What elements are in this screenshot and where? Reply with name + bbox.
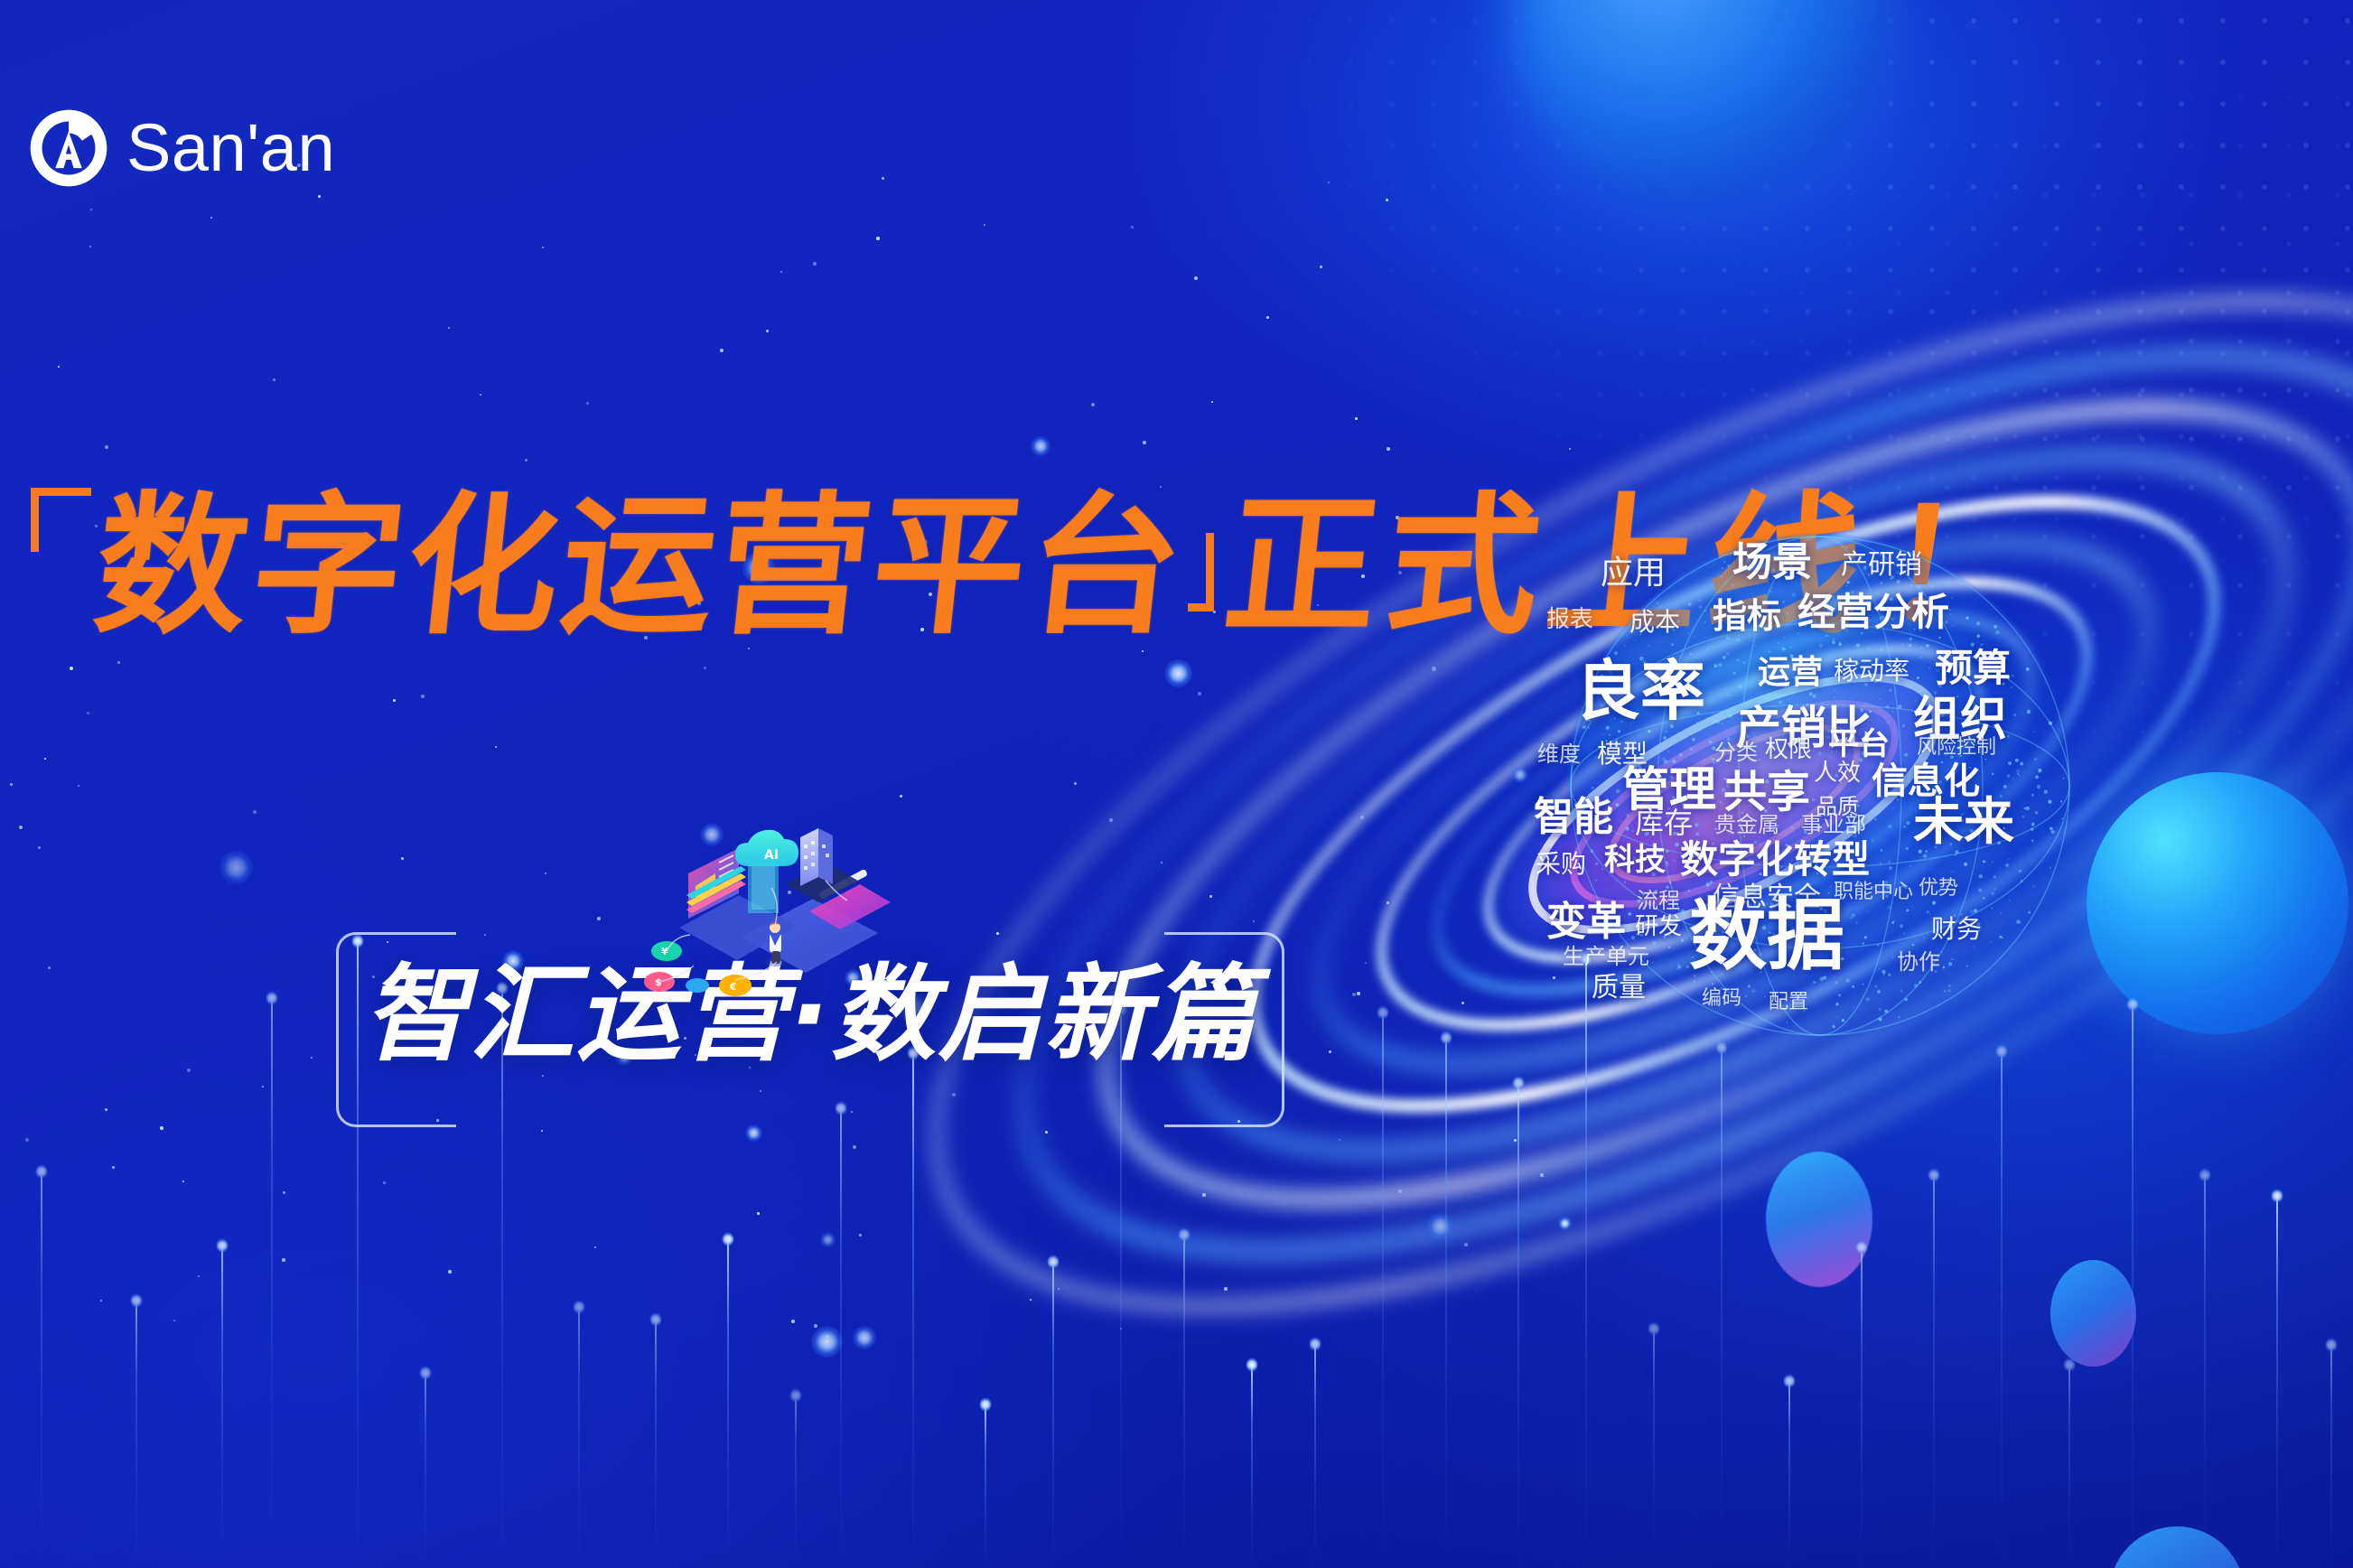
star-particle-icon — [100, 1300, 102, 1302]
star-particle-icon — [1355, 417, 1358, 420]
light-beam-icon — [2330, 1344, 2332, 1568]
light-beam-icon — [2132, 1003, 2134, 1568]
star-particle-icon — [1569, 448, 1571, 450]
star-particle-icon — [318, 195, 321, 198]
star-particle-icon — [421, 695, 425, 698]
star-particle-icon — [586, 402, 589, 405]
light-beam-icon — [425, 1372, 426, 1568]
star-particle-icon — [1045, 1131, 1048, 1134]
light-beam-icon — [1382, 1012, 1384, 1568]
star-particle-icon — [720, 349, 724, 352]
light-beam-icon — [795, 1395, 797, 1568]
star-particle-icon — [1109, 818, 1113, 822]
glow-particle-icon — [820, 1232, 836, 1247]
headline-quoted: 数字化运营平台 — [89, 493, 1192, 639]
star-particle-icon — [1266, 316, 1269, 319]
light-beam-icon — [1052, 1261, 1054, 1568]
star-particle-icon — [1514, 1139, 1517, 1142]
star-particle-icon — [87, 712, 89, 714]
isometric-data-platform-illustration: AI — [632, 817, 894, 998]
star-particle-icon — [545, 873, 546, 874]
star-particle-icon — [38, 846, 41, 849]
star-particle-icon — [1320, 266, 1322, 268]
star-particle-icon — [182, 1181, 184, 1182]
star-particle-icon — [48, 966, 51, 969]
star-particle-icon — [757, 1212, 760, 1215]
glow-particle-icon — [1512, 767, 1528, 783]
star-particle-icon — [1198, 692, 1201, 695]
light-beam-icon — [1861, 1246, 1863, 1568]
light-beam-icon — [221, 1245, 223, 1568]
star-particle-icon — [1058, 1288, 1060, 1290]
star-particle-icon — [383, 1181, 386, 1184]
glow-particle-icon — [745, 1125, 762, 1142]
word-cloud-item: 质量 — [1592, 975, 1646, 1002]
svg-text:$: $ — [655, 976, 662, 988]
light-beam-icon — [985, 1404, 986, 1568]
gradient-sphere-bottom-icon — [2109, 1526, 2245, 1568]
star-particle-icon — [1194, 276, 1198, 280]
glow-particle-icon — [1558, 1217, 1572, 1230]
star-particle-icon — [112, 1166, 115, 1169]
light-beam-icon — [2276, 1195, 2278, 1568]
star-particle-icon — [1360, 816, 1364, 819]
bracket-close-icon — [1188, 533, 1214, 611]
cyan-sphere-icon — [2087, 772, 2348, 1034]
blue-sphere-icon — [1510, 0, 1899, 217]
light-beam-icon — [1183, 1234, 1185, 1568]
star-particle-icon — [1387, 901, 1389, 904]
brand-name: San'an — [126, 115, 335, 182]
star-particle-icon — [1357, 992, 1360, 995]
star-particle-icon — [1540, 1173, 1544, 1177]
star-particle-icon — [594, 1246, 596, 1248]
star-particle-icon — [1143, 441, 1146, 444]
star-particle-icon — [900, 795, 902, 798]
svg-text:AI: AI — [764, 848, 779, 863]
star-particle-icon — [1161, 862, 1162, 863]
star-particle-icon — [704, 667, 706, 669]
glow-particle-icon — [219, 851, 253, 884]
light-beam-icon — [1251, 1364, 1253, 1568]
star-particle-icon — [1553, 976, 1555, 979]
gradient-sphere-icon — [1766, 1152, 1872, 1287]
brand-logo[interactable]: San'an — [27, 107, 335, 190]
star-particle-icon — [1211, 401, 1213, 403]
star-particle-icon — [525, 459, 528, 462]
star-particle-icon — [448, 1270, 452, 1274]
star-particle-icon — [273, 378, 275, 381]
poster-canvas: San'an 数字化运营平台 正式上线 ！ 智汇运营·数启新篇 — [0, 0, 2353, 1568]
light-beam-icon — [1721, 1047, 1723, 1568]
star-particle-icon — [1365, 962, 1367, 964]
sanan-circle-a-logo-icon — [27, 107, 110, 190]
digital-globe-icon — [1567, 533, 2073, 1039]
star-particle-icon — [1209, 895, 1212, 898]
star-particle-icon — [1329, 1050, 1331, 1053]
glow-particle-icon — [853, 1326, 876, 1349]
light-beam-icon — [1445, 1037, 1447, 1568]
star-particle-icon — [1461, 1002, 1464, 1004]
star-particle-icon — [1352, 993, 1356, 996]
star-particle-icon — [198, 1275, 200, 1277]
star-particle-icon — [160, 1126, 163, 1130]
star-particle-icon — [117, 661, 120, 664]
light-beam-icon — [1517, 1082, 1519, 1568]
star-particle-icon — [10, 783, 13, 786]
light-beam-icon — [2068, 1364, 2070, 1568]
star-particle-icon — [814, 1324, 817, 1328]
light-beam-icon — [41, 1171, 42, 1568]
light-beam-icon — [840, 1107, 842, 1568]
star-particle-icon — [597, 917, 601, 920]
bracket-open-icon — [31, 488, 91, 552]
star-particle-icon — [1464, 1243, 1468, 1246]
light-beam-icon — [1314, 1343, 1316, 1568]
star-particle-icon — [766, 330, 769, 332]
star-particle-icon — [25, 1138, 29, 1142]
star-particle-icon — [187, 1069, 191, 1072]
star-particle-icon — [1328, 182, 1330, 183]
star-particle-icon — [1131, 226, 1134, 229]
light-beam-icon — [1933, 1174, 1935, 1568]
light-beam-icon — [655, 1319, 657, 1568]
light-beam-icon — [912, 1052, 914, 1568]
star-particle-icon — [791, 1320, 795, 1323]
star-particle-icon — [853, 1145, 856, 1149]
star-particle-icon — [1224, 1287, 1228, 1291]
glow-particle-icon — [1427, 1213, 1453, 1239]
star-particle-icon — [882, 177, 884, 180]
star-particle-icon — [44, 758, 46, 760]
star-particle-icon — [253, 810, 257, 814]
star-particle-icon — [1387, 447, 1390, 451]
star-particle-icon — [1091, 403, 1095, 406]
star-particle-icon — [859, 1234, 862, 1237]
star-particle-icon — [89, 246, 91, 247]
star-particle-icon — [70, 667, 73, 670]
star-particle-icon — [105, 1108, 107, 1111]
star-particle-icon — [1386, 199, 1388, 201]
star-particle-icon — [282, 1258, 285, 1262]
light-beam-icon — [1585, 958, 1587, 1568]
star-particle-icon — [495, 746, 497, 748]
star-particle-icon — [448, 327, 450, 329]
light-beam-icon — [271, 997, 273, 1568]
star-particle-icon — [1202, 1193, 1206, 1197]
light-beam-icon — [2204, 1174, 2206, 1568]
star-particle-icon — [1030, 1299, 1032, 1301]
glow-particle-icon — [811, 1326, 843, 1358]
star-particle-icon — [541, 1130, 543, 1132]
svg-text:€: € — [729, 981, 737, 993]
star-particle-icon — [780, 271, 782, 273]
star-particle-icon — [1253, 920, 1255, 922]
gradient-sphere-small-icon — [2050, 1260, 2136, 1367]
star-particle-icon — [984, 224, 985, 226]
star-particle-icon — [1339, 1139, 1340, 1141]
star-particle-icon — [813, 262, 817, 266]
star-particle-icon — [210, 217, 212, 219]
star-particle-icon — [480, 394, 481, 396]
star-particle-icon — [283, 1191, 285, 1194]
light-beam-icon — [578, 1306, 580, 1568]
star-particle-icon — [19, 826, 23, 829]
star-particle-icon — [173, 1320, 175, 1321]
star-particle-icon — [58, 366, 60, 368]
light-beam-icon — [1653, 1328, 1655, 1568]
star-particle-icon — [90, 209, 92, 210]
light-beam-icon — [135, 1300, 137, 1568]
page-title: 数字化运营平台 正式上线 ！ — [31, 488, 1657, 639]
glow-particle-icon — [1164, 659, 1192, 687]
star-particle-icon — [401, 857, 404, 860]
star-particle-icon — [393, 699, 396, 702]
star-particle-icon — [1074, 782, 1077, 785]
star-particle-icon — [1398, 1190, 1402, 1193]
star-particle-icon — [78, 785, 79, 787]
star-particle-icon — [876, 237, 880, 240]
star-particle-icon — [542, 247, 544, 248]
glow-particle-icon — [1031, 436, 1050, 456]
light-beam-icon — [1788, 1380, 1790, 1568]
svg-text:¥: ¥ — [661, 946, 668, 957]
star-particle-icon — [105, 445, 108, 449]
star-particle-icon — [262, 1086, 264, 1087]
light-beam-icon — [727, 1238, 729, 1568]
light-beam-icon — [2001, 1050, 2003, 1568]
star-particle-icon — [1432, 667, 1436, 671]
